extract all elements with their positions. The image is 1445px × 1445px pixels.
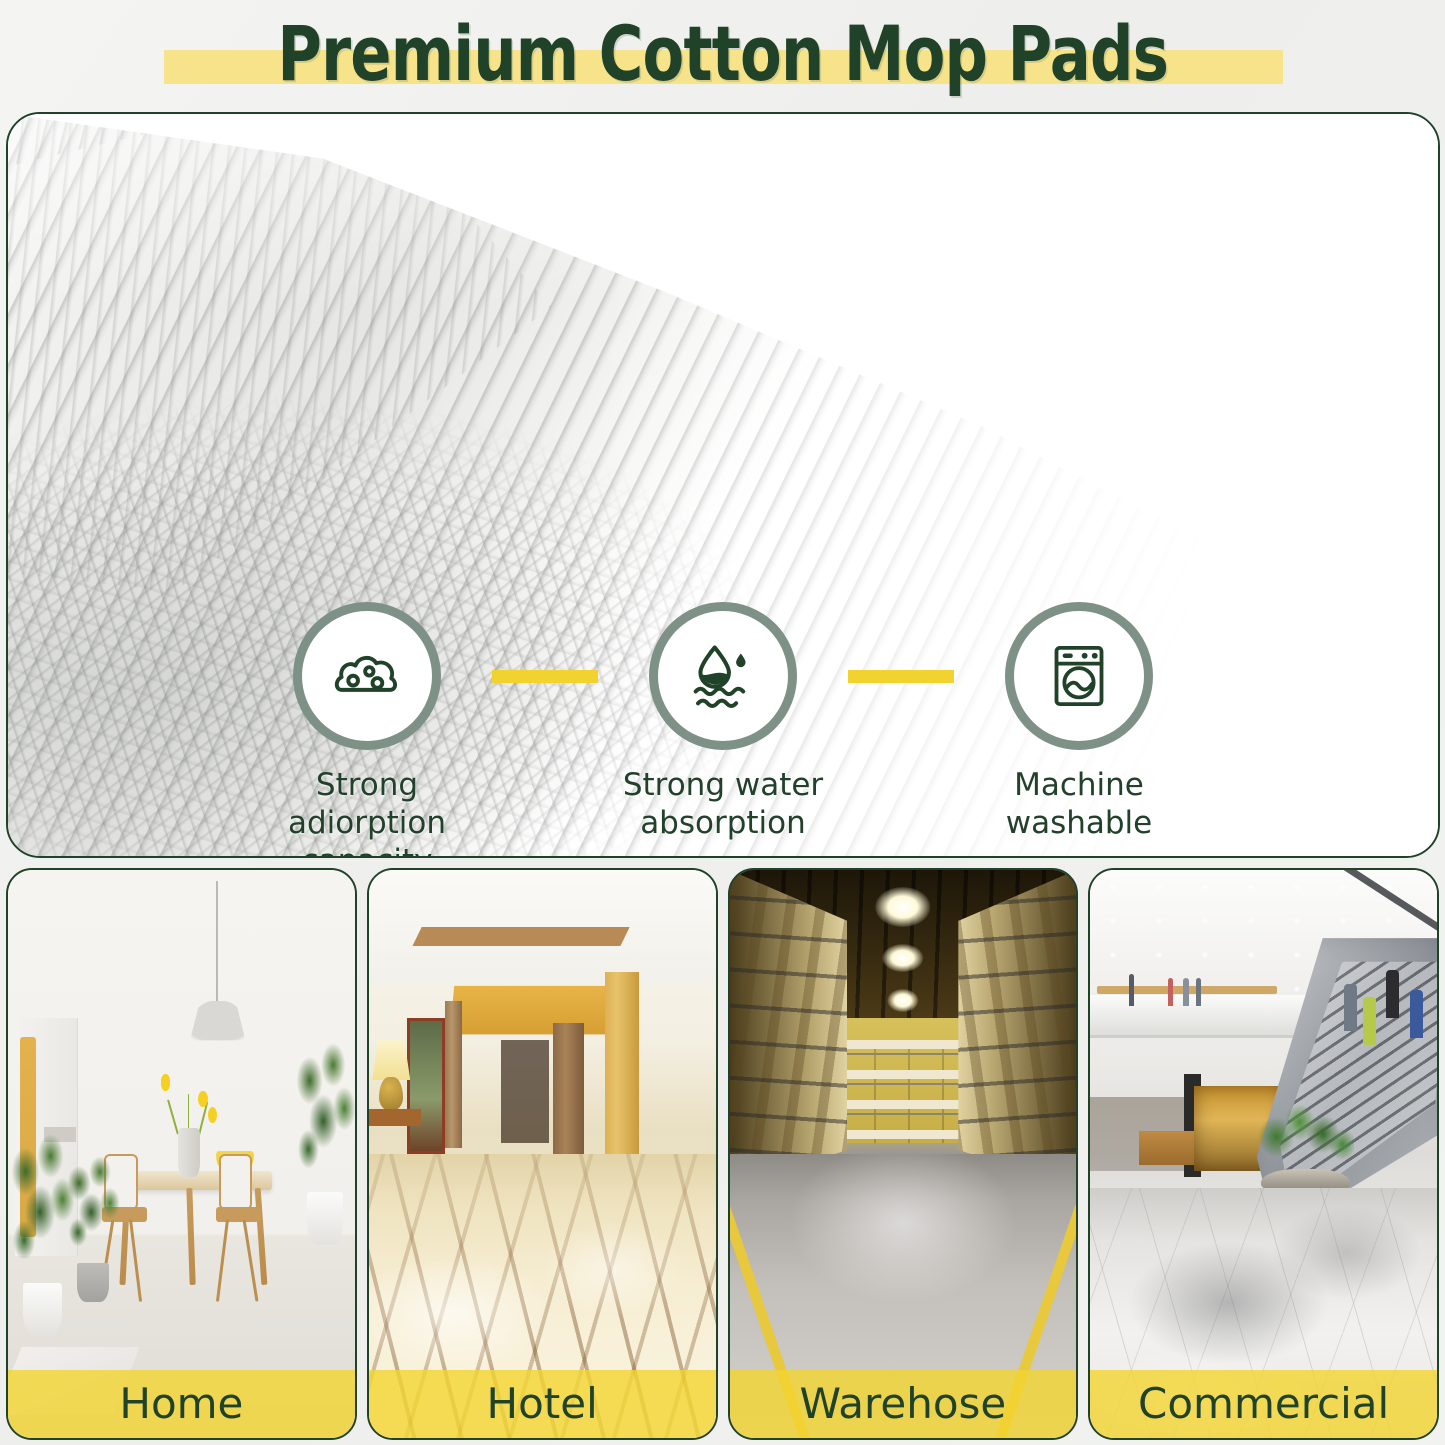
use-case-label: Commercial [1090, 1370, 1437, 1438]
console-table [369, 1109, 421, 1126]
connector-dash-1 [492, 670, 598, 683]
feature-label: Machine washable [1006, 766, 1153, 842]
warehouse-aisle-photo [730, 870, 1077, 1438]
stone-column [553, 1023, 584, 1154]
use-case-panel-row: Home Hotel [6, 868, 1439, 1440]
use-case-panel-hotel[interactable]: Hotel [367, 868, 718, 1440]
entry-doorway [407, 1018, 445, 1154]
table-lamp-base [379, 1077, 403, 1111]
sponge-icon [330, 639, 404, 713]
feature-item-machine-washable: Machine washable [954, 602, 1204, 842]
feature-badge-circle [293, 602, 441, 750]
page-title-text: Premium Cotton Mop Pads [277, 6, 1168, 102]
pendant-lamp [190, 1001, 245, 1041]
table-leg [187, 1188, 196, 1285]
stone-column [445, 1001, 462, 1149]
infographic-page: Premium Cotton Mop Pads [0, 0, 1445, 1445]
page-title: Premium Cotton Mop Pads [0, 0, 1445, 108]
pallet-racking-right [958, 870, 1076, 1188]
flower-vase [178, 1128, 201, 1176]
dining-room-photo [8, 870, 355, 1438]
ceiling-beam [413, 927, 630, 946]
indoor-planter [1257, 1097, 1354, 1199]
pallet-racking-left [730, 870, 848, 1188]
feature-badge-row: Strong adiorption capacity S [8, 602, 1438, 852]
ceiling-light [887, 989, 918, 1012]
shoppers-on-escalator [1312, 938, 1430, 1052]
use-case-panel-home[interactable]: Home [6, 868, 357, 1440]
feature-item-adsorption: Strong adiorption capacity [242, 602, 492, 858]
ceiling-light [875, 887, 930, 927]
feature-label: Strong water absorption [623, 766, 823, 842]
use-case-label: Warehose [730, 1370, 1077, 1438]
wood-column [605, 972, 640, 1165]
table-lamp-shade [372, 1040, 410, 1080]
shopping-mall-photo [1090, 870, 1437, 1438]
use-case-label: Hotel [369, 1370, 716, 1438]
feature-label: Strong adiorption capacity [242, 766, 492, 858]
use-case-panel-warehouse[interactable]: Warehose [728, 868, 1079, 1440]
overhead-soffit [450, 985, 628, 1034]
dining-chair [216, 1154, 261, 1302]
pendant-lamp-cord [216, 881, 218, 1006]
feature-badge-circle [1005, 602, 1153, 750]
connector-dash-2 [848, 670, 954, 683]
feature-badge-circle [649, 602, 797, 750]
potted-plant [67, 1154, 122, 1302]
water-drop-icon [685, 638, 761, 714]
hero-panel: Strong adiorption capacity S [6, 112, 1440, 858]
wood-counter [1139, 1131, 1194, 1165]
potted-plant [296, 1040, 357, 1244]
hotel-lobby-photo [369, 870, 716, 1438]
pallet-stacks [840, 1040, 965, 1142]
use-case-panel-commercial[interactable]: Commercial [1088, 868, 1439, 1440]
ceiling-light [882, 944, 924, 972]
feature-item-water-absorption: Strong water absorption [598, 602, 848, 842]
washing-machine-icon [1043, 640, 1115, 712]
lobby-alcove [501, 1040, 550, 1142]
use-case-label: Home [8, 1370, 355, 1438]
